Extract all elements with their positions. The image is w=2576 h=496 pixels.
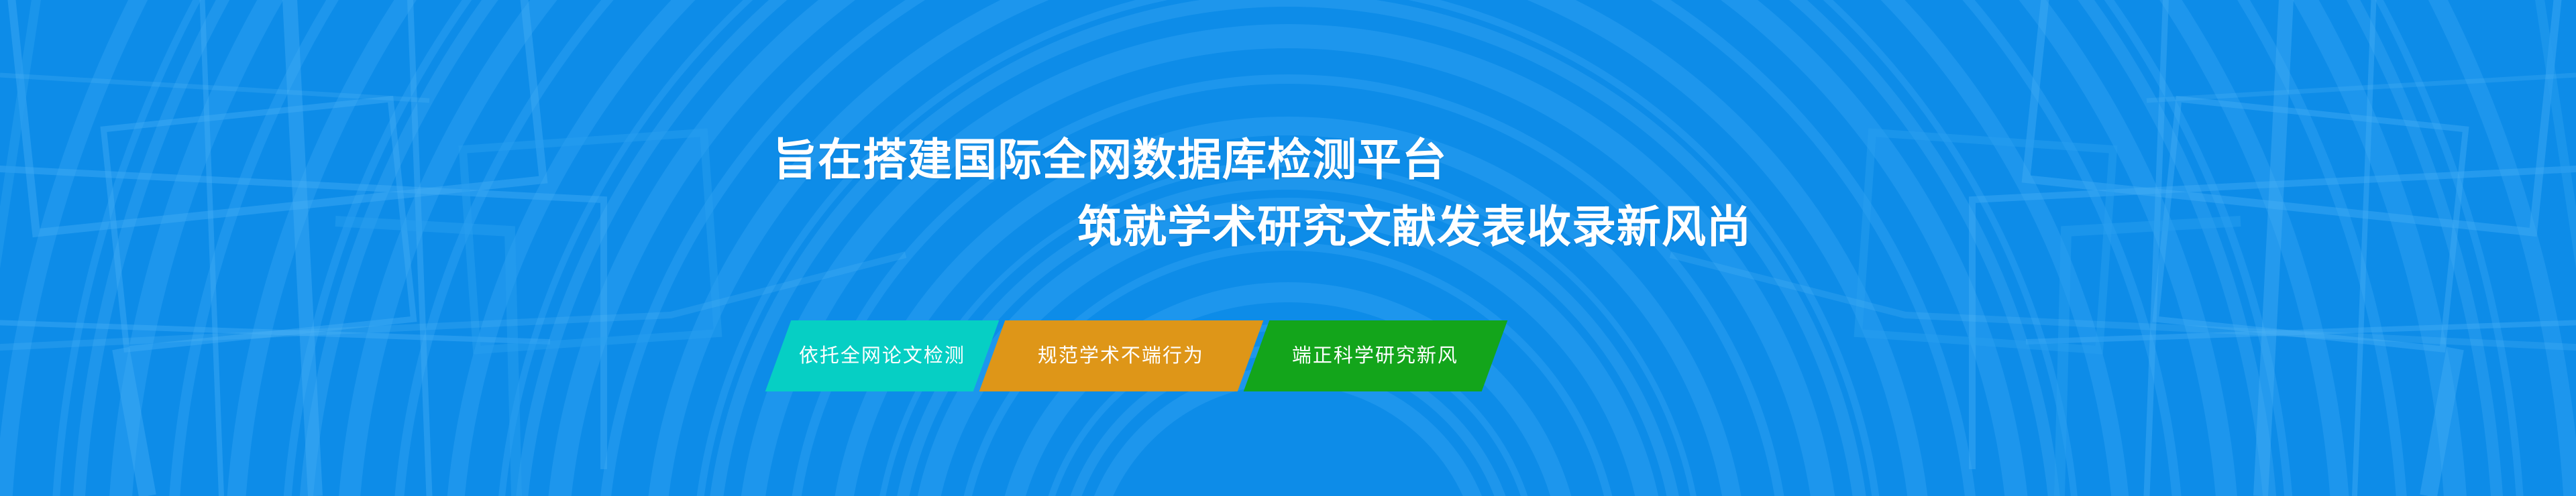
feature-badge-label: 端正科学研究新风 [1292,347,1458,366]
headline-block: 旨在搭建国际全网数据库检测平台 筑就学术研究文献发表收录新风尚 [0,0,2576,496]
feature-badge-row: 依托全网论文检测 规范学术不端行为 端正科学研究新风 [778,320,1495,391]
headline-line-2: 筑就学术研究文献发表收录新风尚 [1077,204,1752,249]
feature-badge-misconduct[interactable]: 规范学术不端行为 [979,320,1264,391]
feature-badge-paper-detection[interactable]: 依托全网论文检测 [765,320,1000,391]
feature-badge-label: 规范学术不端行为 [1038,347,1204,366]
headline-line-1: 旨在搭建国际全网数据库检测平台 [773,137,1447,182]
promo-banner: 旨在搭建国际全网数据库检测平台 筑就学术研究文献发表收录新风尚 依托全网论文检测… [0,0,2576,496]
feature-badge-research-ethos[interactable]: 端正科学研究新风 [1244,320,1508,391]
feature-badge-label: 依托全网论文检测 [799,347,965,366]
